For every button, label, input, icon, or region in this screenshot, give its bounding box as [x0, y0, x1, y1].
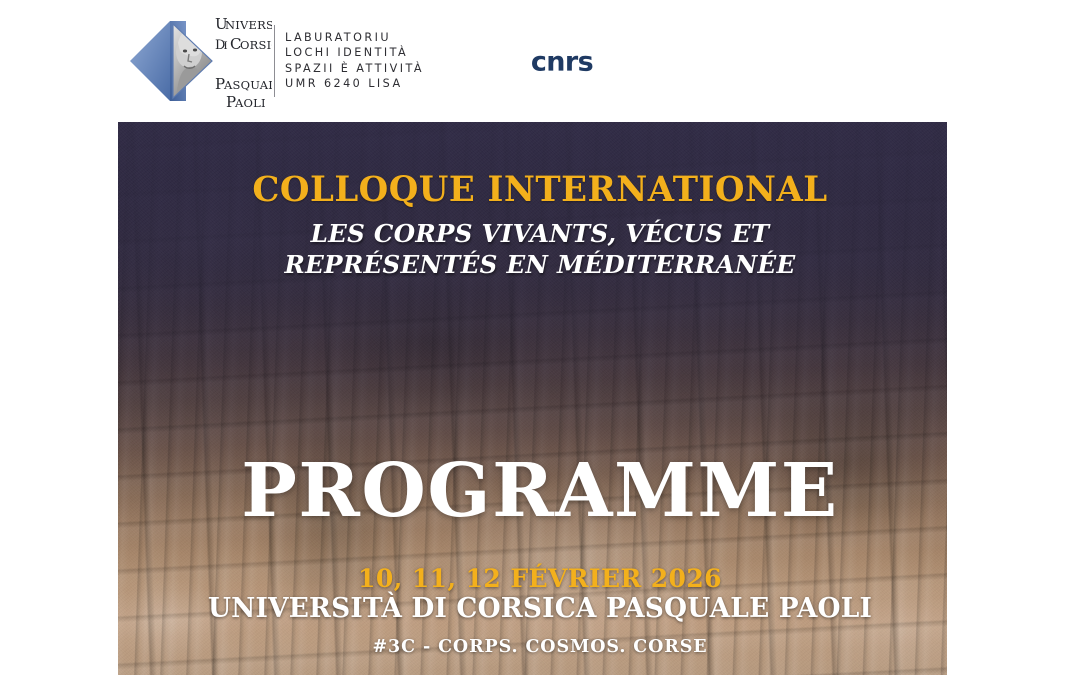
poster-subtitle-line-1: LES CORPS VIVANTS, VÉCUS ET — [0, 218, 1080, 249]
cnrs-logo: cnrs — [521, 20, 603, 102]
event-date: 10, 11, 12 FÉVRIER 2026 — [0, 564, 1080, 593]
pasquale-paoli-portrait — [173, 21, 215, 101]
logo-bar: U NIVERSITÀ D I C ORSICA P ASQUALE P AOL… — [118, 0, 436, 121]
event-venue: UNIVERSITÀ DI CORSICA PASQUALE PAOLI — [22, 592, 1059, 624]
svg-text:NIVERSITÀ: NIVERSITÀ — [225, 18, 272, 32]
svg-text:I: I — [224, 40, 228, 52]
svg-text:cnrs: cnrs — [531, 47, 593, 78]
lab-line-3: SPAZII È ATTIVITÀ — [285, 61, 424, 76]
cnrs-wordmark: cnrs — [531, 47, 593, 78]
svg-text:AOLI: AOLI — [234, 96, 266, 110]
poster-canvas: COLLOQUE INTERNATIONAL LES CORPS VIVANTS… — [0, 0, 1080, 675]
universita-di-corsica-logo: U NIVERSITÀ D I C ORSICA P ASQUALE P AOL… — [126, 7, 272, 115]
event-hashtag: #3C - CORPS. COSMOS. CORSE — [0, 637, 1080, 657]
poster-subtitle-line-2: REPRÉSENTÉS EN MÉDITERRANÉE — [0, 249, 1080, 280]
colloque-title: COLLOQUE INTERNATIONAL — [16, 169, 1064, 210]
svg-text:ASQUALE: ASQUALE — [223, 78, 272, 92]
laboratory-name-block: LABURATORIU LOCHI IDENTITÀ SPAZII È ATTI… — [285, 30, 424, 91]
programme-headline: PROGRAMME — [0, 448, 1080, 534]
poster-subtitle: LES CORPS VIVANTS, VÉCUS ET REPRÉSENTÉS … — [0, 218, 1080, 280]
svg-text:ORSICA: ORSICA — [240, 38, 272, 52]
lab-line-4: UMR 6240 LISA — [285, 76, 424, 91]
lab-line-1: LABURATORIU — [285, 30, 424, 45]
lab-line-2: LOCHI IDENTITÀ — [285, 45, 424, 60]
logo-triangle-left — [130, 21, 170, 101]
logo-divider — [274, 25, 275, 97]
